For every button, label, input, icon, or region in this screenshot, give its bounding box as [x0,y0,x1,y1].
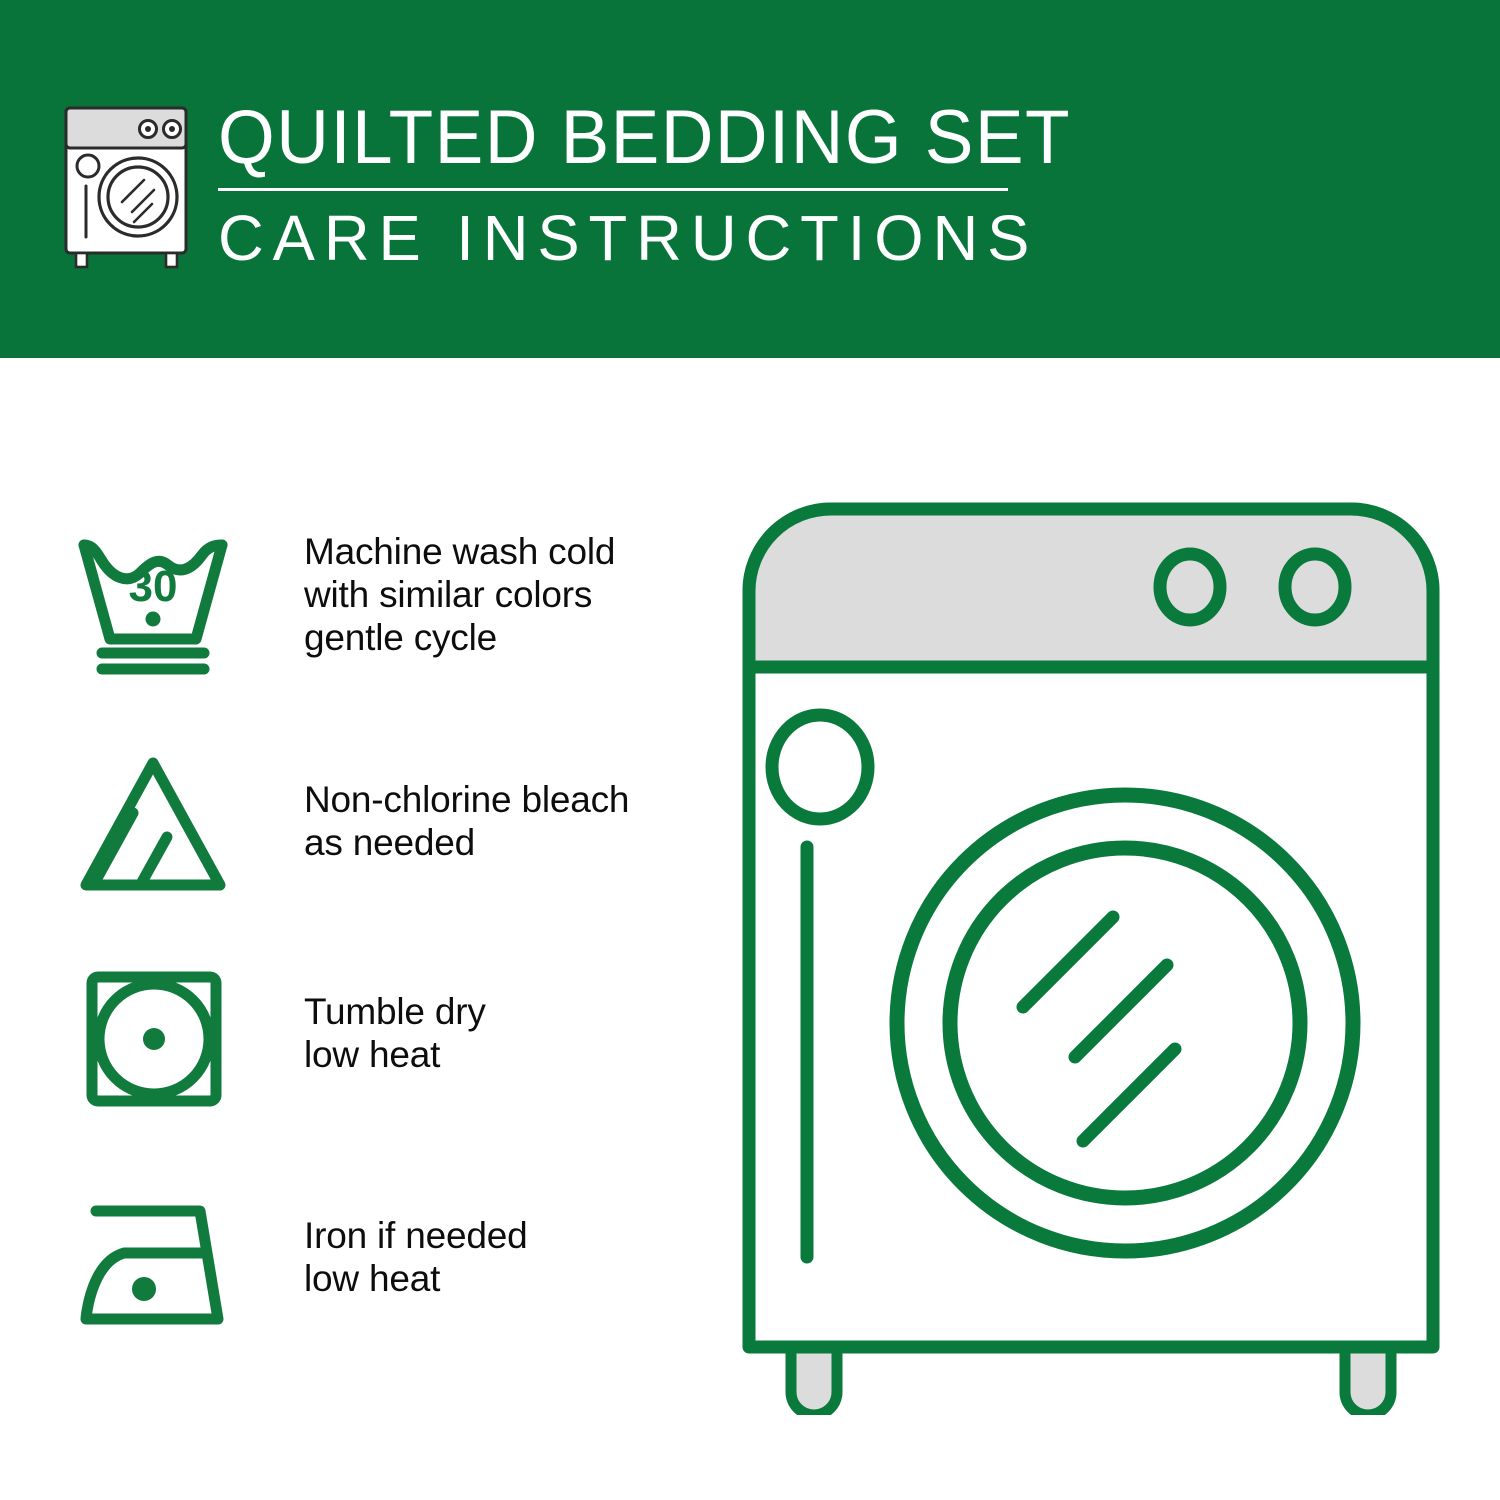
washer-knob-1 [1160,554,1220,620]
care-item-label: Non-chlorine bleach as needed [304,778,724,864]
wash-temperature-label: 30 [129,562,178,611]
care-item-label: Iron if needed low heat [304,1214,724,1300]
washer-dispenser-button [772,715,868,819]
care-item-label: Machine wash cold with similar colors ge… [304,530,724,659]
care-item-tumble-dry: Tumble dry low heat [72,952,712,1172]
iron-icon [72,1186,242,1346]
header-text-block: QUILTED BEDDING SET CARE INSTRUCTIONS [218,96,1018,275]
wash-tub-30-icon: 30 [72,524,242,684]
header-band: QUILTED BEDDING SET CARE INSTRUCTIONS [0,0,1500,358]
care-item-bleach: Non-chlorine bleach as needed [72,732,712,952]
triangle-bleach-icon [72,746,242,906]
page-subtitle: CARE INSTRUCTIONS [218,201,1010,275]
page-title: QUILTED BEDDING SET [218,96,986,180]
care-instruction-list: 30 Machine wash cold with similar colors… [72,512,712,1392]
washer-knob-2 [1285,554,1345,620]
front-load-washing-machine-illustration [735,495,1465,1415]
care-item-label: Tumble dry low heat [304,990,724,1076]
care-item-machine-wash: 30 Machine wash cold with similar colors… [72,512,712,732]
washer-door-inner-ring [950,848,1300,1198]
washing-machine-icon [60,104,200,269]
title-divider [218,188,1008,191]
tumble-dry-icon [72,956,242,1116]
care-item-iron: Iron if needed low heat [72,1172,712,1392]
